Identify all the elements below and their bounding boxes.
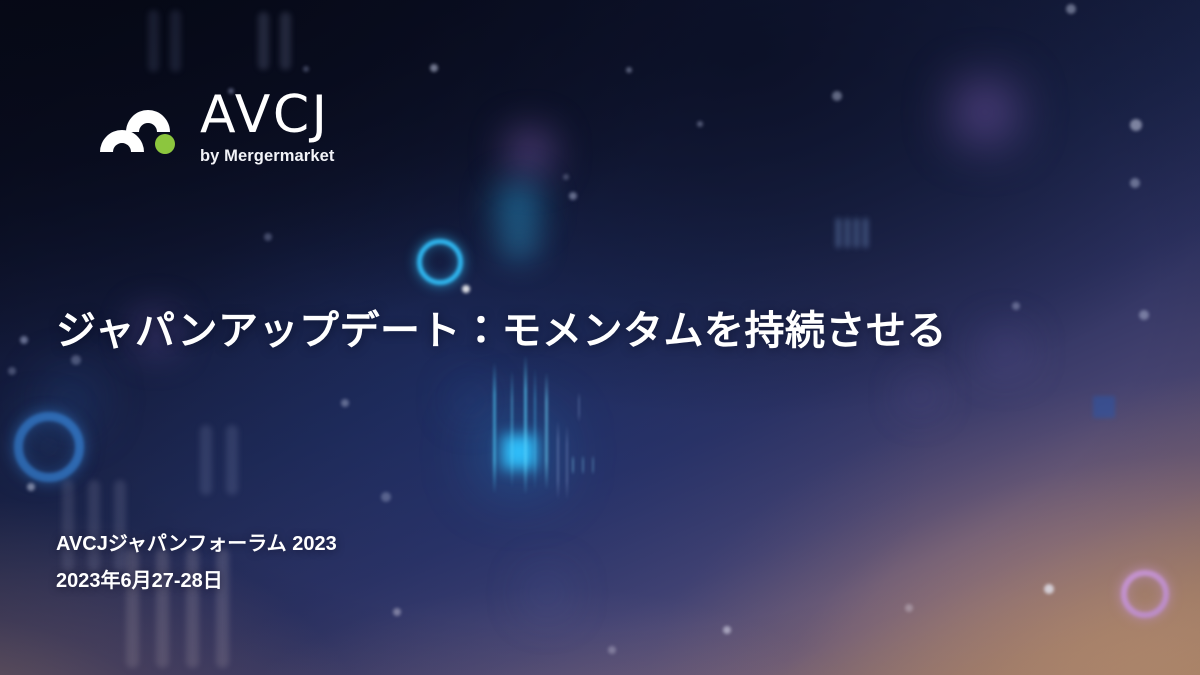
dot-g	[430, 64, 438, 72]
orb-blue-left-lower	[11, 407, 71, 467]
dot-o	[1139, 310, 1149, 320]
dot-k	[626, 67, 632, 73]
square-cyan-bright	[502, 435, 536, 469]
orb-blue-left-upper	[37, 366, 105, 434]
avcj-wordmark: AVCJ	[200, 92, 334, 140]
dot-y	[264, 233, 272, 241]
avcj-logo: AVCJ by Mergermarket	[96, 92, 334, 166]
dot-q	[1130, 178, 1140, 188]
light-line-2	[511, 370, 513, 488]
bar-group-icon-right-3	[854, 218, 859, 248]
title-slide: AVCJ by Mergermarket ジャパンアップデート：モメンタムを持続…	[0, 0, 1200, 675]
dot-l	[697, 121, 703, 127]
dot-f	[303, 66, 309, 72]
bar-group-top-left-1	[148, 10, 159, 72]
orb-violet-right-low	[981, 326, 1029, 374]
light-line-7	[566, 425, 568, 500]
light-line-6	[557, 420, 559, 500]
dot-m	[832, 91, 842, 101]
dot-z	[905, 604, 913, 612]
orb-cyan-mid	[492, 180, 544, 232]
dot-x	[608, 646, 616, 654]
light-line-4	[534, 368, 536, 490]
dot-b	[8, 367, 16, 375]
ring-cyan-upper	[417, 239, 463, 285]
orb-cyan-bright	[499, 222, 539, 262]
bar-group-top-center-2	[280, 12, 291, 70]
square-blue-right	[1093, 396, 1115, 418]
dot-h	[462, 285, 470, 293]
orb-blue-center	[448, 378, 492, 422]
bar-group-left-mid-1	[200, 425, 212, 495]
bar-group-icon-right-4	[863, 218, 868, 248]
orb-cyan-square-glow	[476, 410, 560, 494]
dot-w	[381, 492, 391, 502]
dot-j	[563, 174, 569, 180]
dot-c	[71, 355, 81, 365]
light-line-10	[582, 455, 584, 475]
bar-group-icon-right-2	[845, 218, 850, 248]
dot-d	[27, 483, 35, 491]
bar-group-icon-right-1	[836, 218, 841, 248]
dot-n	[1066, 4, 1076, 14]
bar-group-left-mid-2	[226, 425, 238, 495]
event-name: AVCJジャパンフォーラム 2023	[56, 534, 337, 554]
orb-violet-right-bottom	[900, 375, 940, 415]
orb-purple-top-right	[949, 76, 1021, 148]
slide-headline: ジャパンアップデート：モメンタムを持続させる	[56, 306, 947, 356]
orb-blue-bottom-center	[521, 567, 573, 619]
slide-footer: AVCJジャパンフォーラム 2023 2023年6月27-28日	[56, 534, 337, 591]
light-line-11	[592, 455, 594, 475]
avcj-arches-logo-icon	[96, 92, 182, 154]
event-date: 2023年6月27-28日	[56, 571, 337, 591]
orb-purple-mid	[504, 126, 556, 178]
dot-p	[1130, 119, 1142, 131]
avcj-logo-text: AVCJ by Mergermarket	[200, 92, 334, 166]
bar-group-top-left-2	[170, 10, 181, 72]
light-line-8	[578, 392, 580, 422]
dot-u	[393, 608, 401, 616]
ring-pink-bottom-right	[1121, 570, 1169, 618]
dot-i	[569, 192, 577, 200]
light-line-3	[524, 355, 527, 495]
light-line-1	[493, 362, 496, 494]
dot-v	[341, 399, 349, 407]
ring-blue-left	[14, 412, 84, 482]
dot-s	[1044, 584, 1054, 594]
dot-t	[723, 626, 731, 634]
avcj-tagline: by Mergermarket	[200, 147, 334, 166]
light-line-5	[545, 372, 548, 490]
light-line-9	[572, 455, 574, 475]
dot-r	[1012, 302, 1020, 310]
dot-a	[20, 336, 28, 344]
bar-group-top-center-1	[258, 12, 269, 70]
